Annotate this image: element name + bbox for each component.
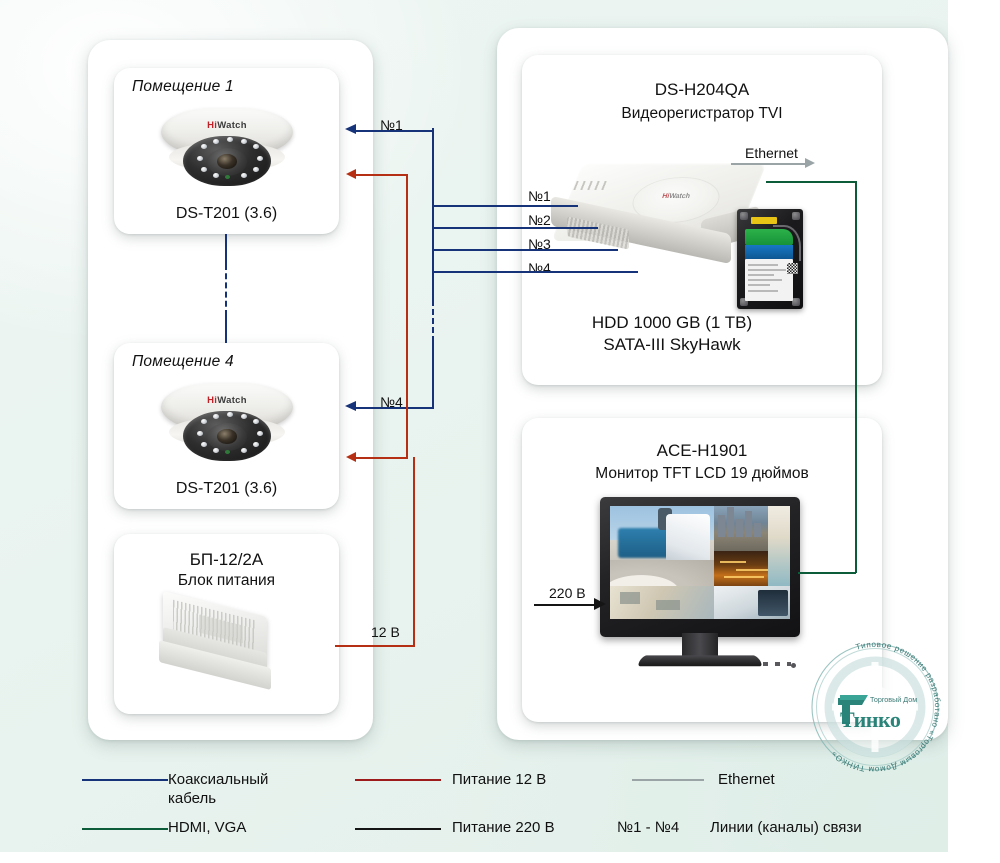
legend-channel-range: №1 - №4: [617, 818, 679, 837]
power12-from-psu: [335, 645, 415, 647]
hdmi-line-bottom: [798, 572, 856, 574]
coax-line-ch2: [433, 227, 598, 229]
ethernet-arrow-icon: [805, 158, 815, 168]
monitor-name: Монитор TFT LCD 19 дюймов: [522, 465, 882, 483]
diagram-canvas: Помещение 1 HiWatch DS-T201 (3.6) Помеще…: [0, 0, 1000, 863]
legend-label-power220: Питание 220 В: [452, 818, 555, 837]
monitor-image: [600, 497, 800, 672]
power12-label: 12 В: [371, 624, 400, 640]
room-4-label: Помещение 4: [132, 353, 234, 371]
room-link-solid-top: [225, 234, 227, 264]
dvr-channel-1-label: №1: [528, 188, 551, 204]
legend-label-hdmi: HDMI, VGA: [168, 818, 246, 837]
dvr-channel-4-label: №4: [528, 260, 551, 276]
watermark-logo-main: Тинко: [840, 707, 901, 732]
ethernet-label: Ethernet: [745, 145, 798, 161]
power-220-line: [534, 604, 596, 606]
dvr-image: HiWatch: [551, 163, 767, 285]
monitor-model: ACE-H1901: [522, 441, 882, 461]
ethernet-line: [731, 163, 807, 165]
dvr-name: Видеорегистратор TVI: [522, 105, 882, 123]
camera-1-image: HiWatch: [161, 108, 293, 192]
dvr-model: DS-H204QA: [522, 80, 882, 100]
camera-1-model: DS-T201 (3.6): [114, 205, 339, 223]
legend-swatch-ethernet: [632, 779, 704, 781]
legend-label-coax: Коаксиальный кабель: [168, 770, 358, 808]
hdmi-line-vertical: [855, 181, 857, 573]
legend-channel-caption: Линии (каналы) связи: [710, 818, 862, 837]
power12-branch-cam1: [356, 174, 408, 176]
legend-label-ethernet: Ethernet: [718, 770, 775, 789]
legend-swatch-power12: [355, 779, 441, 781]
monitor-power-label: 220 В: [549, 585, 586, 601]
legend-coax-line1: Коаксиальный: [168, 771, 268, 788]
psu-model: БП-12/2А: [114, 550, 339, 570]
coax-trunk-upper: [432, 128, 434, 300]
hdd-model: SATA-III SkyHawk: [522, 335, 822, 355]
coax-branch-cam4: [356, 407, 434, 409]
coax-trunk-lower: [432, 342, 434, 408]
dvr-channel-2-label: №2: [528, 212, 551, 228]
power-220-arrow-icon: [594, 598, 606, 610]
power12-trunk: [406, 175, 408, 458]
coax-line-ch1: [433, 205, 578, 207]
legend-swatch-hdmi: [82, 828, 168, 830]
legend-coax-line2: кабель: [168, 790, 216, 807]
legend-label-power12: Питание 12 В: [452, 770, 546, 789]
power12-branch-cam4: [356, 457, 408, 459]
watermark-tinko: Типовое решение разработано «Торговым До…: [800, 632, 950, 782]
monitor-screen-quadview: [610, 506, 790, 619]
watermark-logo-small: Торговый Дом: [870, 695, 917, 704]
camera-4-model: DS-T201 (3.6): [114, 480, 339, 498]
coax-arrow-cam1-icon: [345, 124, 356, 134]
psu-name: Блок питания: [114, 572, 339, 590]
room-link-solid-bottom: [225, 316, 227, 343]
room-1-label: Помещение 1: [132, 78, 234, 96]
coax-line-ch3: [433, 249, 618, 251]
power12-arrow-cam4-icon: [346, 452, 356, 462]
hdmi-line-top: [766, 181, 856, 183]
hdd-capacity: HDD 1000 GB (1 TB): [522, 313, 822, 333]
legend-swatch-power220: [355, 828, 441, 830]
coax-arrow-cam4-icon: [345, 401, 356, 411]
hdd-image: [737, 209, 803, 309]
coax-trunk-dashed: [432, 300, 434, 342]
legend-swatch-coax: [82, 779, 168, 781]
power12-riser: [413, 457, 415, 646]
power-supply-image: [157, 600, 283, 692]
coax-line-ch4: [433, 271, 638, 273]
power12-arrow-cam1-icon: [346, 169, 356, 179]
room-link-dashed: [225, 264, 227, 316]
coax-branch-cam1: [356, 130, 434, 132]
camera-4-image: HiWatch: [161, 383, 293, 467]
